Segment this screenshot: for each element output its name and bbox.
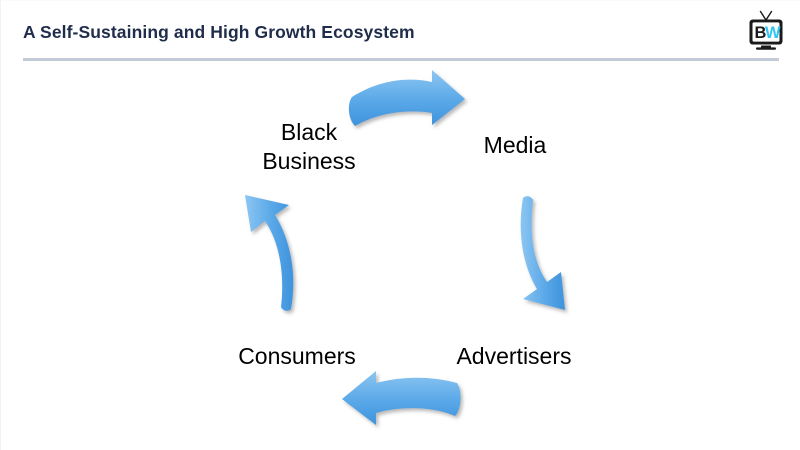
- arrow-consumers-to-black-business: [219, 191, 311, 313]
- logo-letter-w: W: [765, 24, 781, 42]
- diagram-node-consumers: Consumers: [209, 342, 385, 371]
- bw-tv-logo: B W: [744, 10, 788, 52]
- arrow-media-to-advertisers: [501, 194, 601, 316]
- antenna-icon: [761, 12, 772, 21]
- title-divider: [23, 58, 779, 61]
- diagram-node-advertisers: Advertisers: [429, 342, 599, 371]
- diagram-node-media: Media: [445, 131, 585, 160]
- page-title: A Self-Sustaining and High Growth Ecosys…: [23, 22, 415, 43]
- tv-stand-icon: [761, 46, 771, 48]
- diagram-node-black-business: Black Business: [229, 118, 389, 176]
- arrow-advertisers-to-consumers: [336, 369, 464, 435]
- slide-canvas: A Self-Sustaining and High Growth Ecosys…: [0, 0, 800, 450]
- tv-base-icon: [756, 47, 776, 49]
